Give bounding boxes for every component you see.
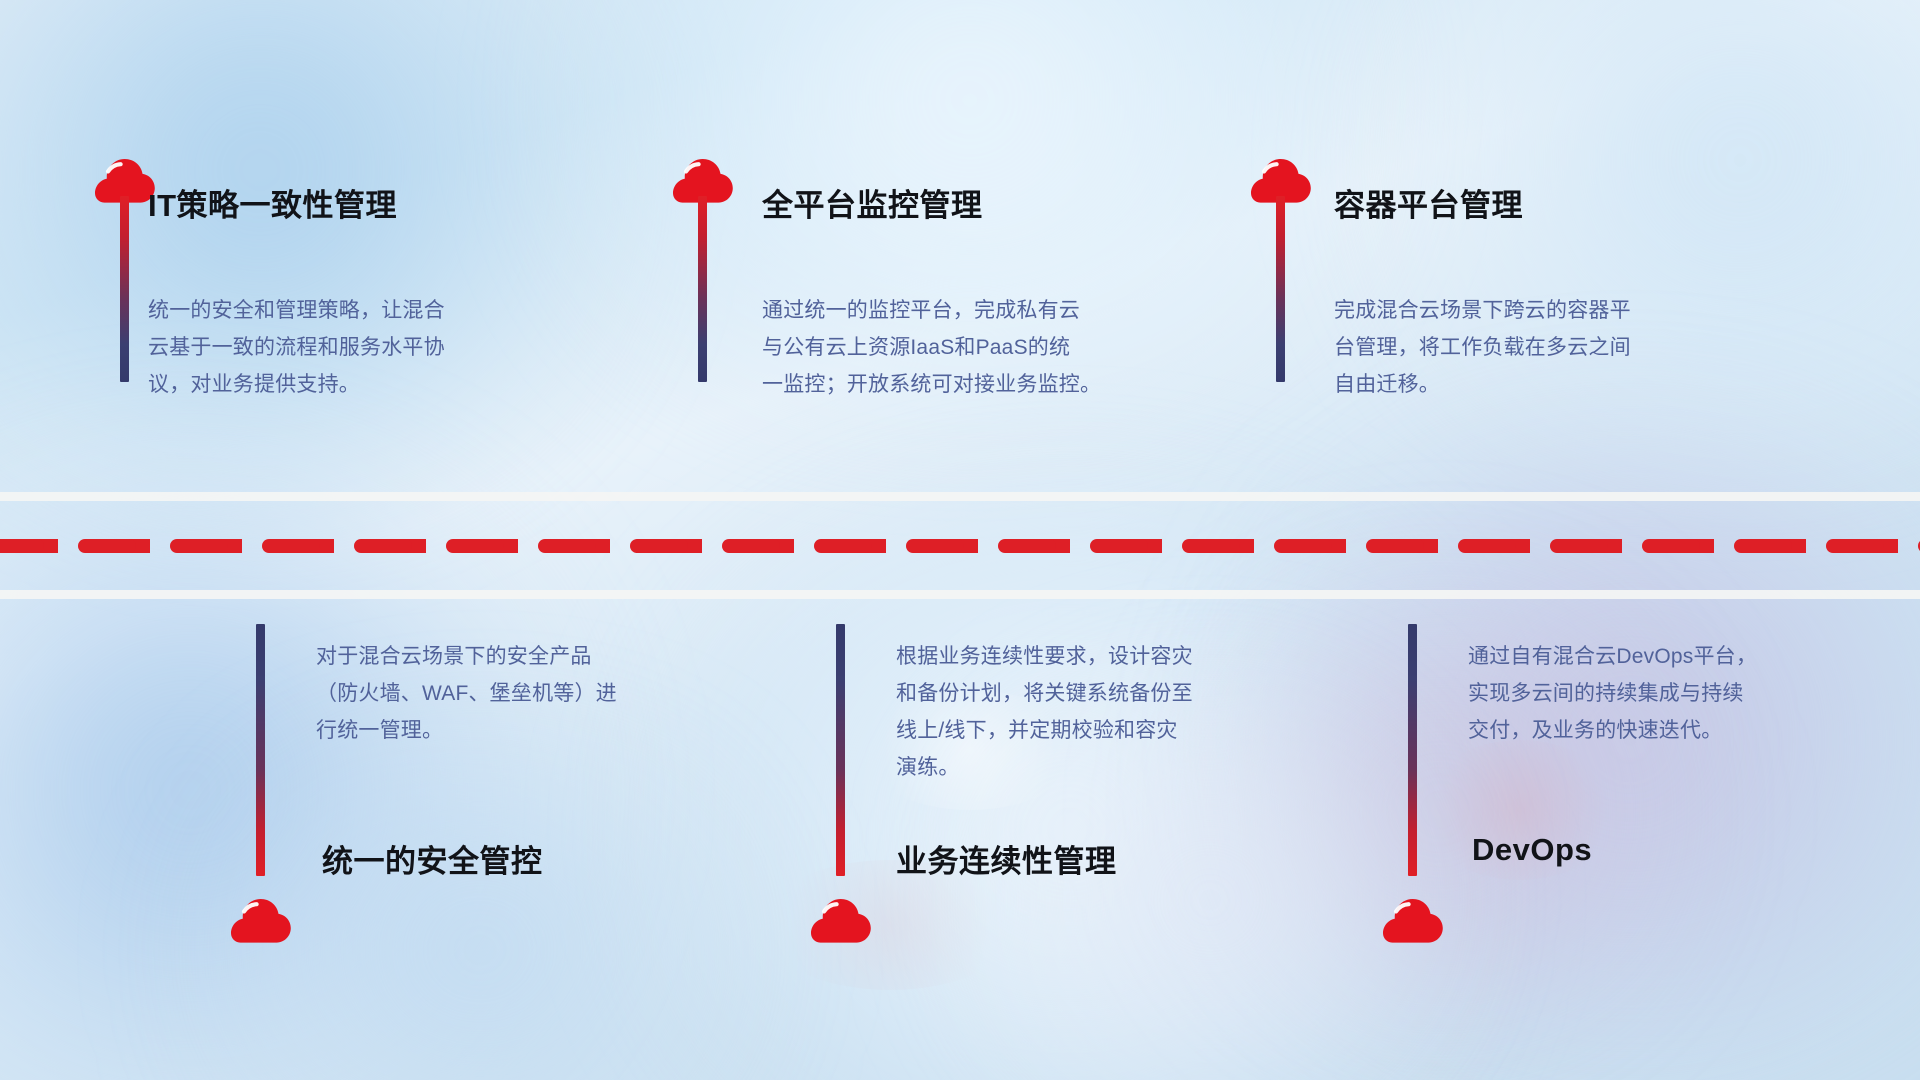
divider-dash-segment	[722, 539, 780, 553]
divider-dash-segment	[354, 539, 412, 553]
column-title: 业务连续性管理	[896, 836, 1117, 881]
column-title: IT策略一致性管理	[148, 180, 397, 225]
divider-dash-segment	[78, 539, 136, 553]
divider-dash-segment	[446, 539, 504, 553]
divider	[0, 492, 1920, 602]
column-body: 对于混合云场景下的安全产品 （防火墙、WAF、堡垒机等）进 行统一管理。	[316, 638, 716, 749]
cloud-icon	[810, 898, 872, 944]
column-title: 全平台监控管理	[762, 180, 983, 225]
column-body: 完成混合云场景下跨云的容器平 台管理，将工作负载在多云之间 自由迁移。	[1334, 292, 1714, 403]
divider-dash-segment	[1458, 539, 1516, 553]
divider-dash-segment	[0, 539, 44, 553]
cloud-icon	[1382, 898, 1444, 944]
divider-dash-segment	[1366, 539, 1424, 553]
column-body: 通过自有混合云DevOps平台， 实现多云间的持续集成与持续 交付，及业务的快速…	[1468, 638, 1868, 749]
column-body: 根据业务连续性要求，设计容灾 和备份计划，将关键系统备份至 线上/线下，并定期校…	[896, 638, 1296, 786]
column-title: 统一的安全管控	[322, 836, 543, 881]
divider-dash-segment	[1182, 539, 1240, 553]
divider-bar-bottom	[0, 590, 1920, 599]
cloud-icon	[230, 898, 292, 944]
divider-dash-segment	[1274, 539, 1332, 553]
connector-stem	[836, 624, 845, 876]
divider-dash-segment	[814, 539, 872, 553]
divider-dash-segment	[1550, 539, 1608, 553]
divider-dash-segment	[630, 539, 688, 553]
divider-bar-top	[0, 492, 1920, 501]
column-title: 容器平台管理	[1334, 180, 1523, 225]
connector-stem	[698, 196, 707, 382]
divider-dash-segment	[906, 539, 964, 553]
divider-dash-segment	[1090, 539, 1148, 553]
divider-dash-segment	[538, 539, 596, 553]
connector-stem	[256, 624, 265, 876]
column-body: 统一的安全和管理策略，让混合 云基于一致的流程和服务水平协 议，对业务提供支持。	[148, 292, 528, 403]
column-title: DevOps	[1472, 832, 1592, 868]
divider-dash-segment	[1734, 539, 1792, 553]
connector-stem	[120, 196, 129, 382]
divider-dash-segment	[1642, 539, 1700, 553]
divider-dash-segment	[170, 539, 228, 553]
connector-stem	[1276, 196, 1285, 382]
divider-dash-segment	[1826, 539, 1884, 553]
divider-dash-segment	[998, 539, 1056, 553]
column-body: 通过统一的监控平台，完成私有云 与公有云上资源IaaS和PaaS的统 一监控；开…	[762, 292, 1162, 403]
divider-dashed-line	[0, 539, 1920, 553]
divider-dash-segment	[262, 539, 320, 553]
connector-stem	[1408, 624, 1417, 876]
